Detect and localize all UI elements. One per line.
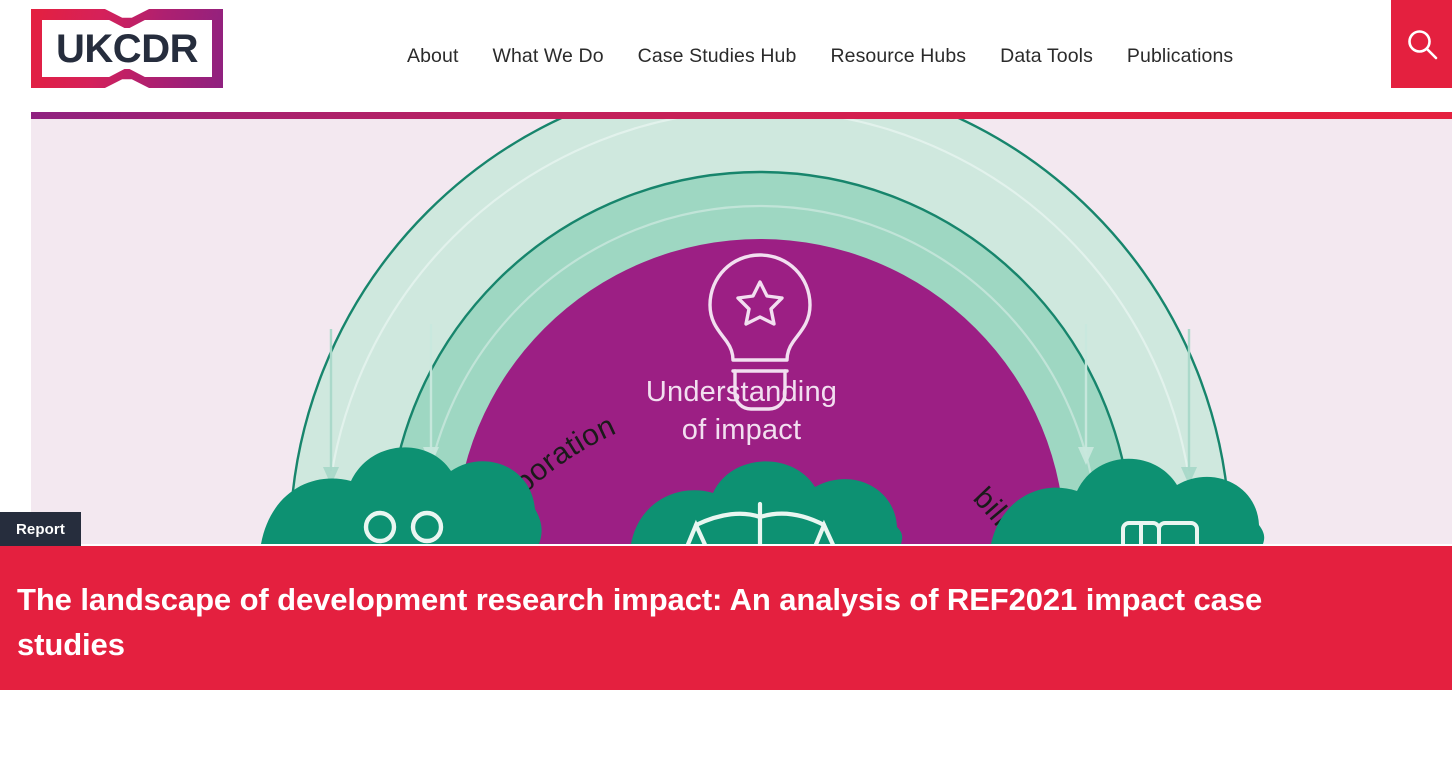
search-icon [1405, 27, 1439, 61]
nav-item-case-studies-hub[interactable]: Case Studies Hub [621, 45, 814, 68]
nav-item-publications[interactable]: Publications [1110, 45, 1250, 68]
page-root: UKCDR About What We Do Case Studies Hub … [0, 0, 1452, 773]
main-navigation: About What We Do Case Studies Hub Resour… [390, 0, 1250, 112]
status-badge-report: Report [0, 512, 81, 546]
ukcdr-logo[interactable]: UKCDR [31, 9, 223, 88]
header-accent-rule [31, 112, 1452, 119]
search-button[interactable] [1391, 0, 1452, 88]
content-below-fold [0, 690, 1452, 773]
logo-wordmark: UKCDR [56, 29, 198, 69]
site-header: UKCDR About What We Do Case Studies Hub … [0, 0, 1452, 112]
nav-item-data-tools[interactable]: Data Tools [983, 45, 1110, 68]
logo-inner-panel: UKCDR [42, 20, 212, 77]
title-banner: The landscape of development research im… [0, 546, 1452, 690]
hero-illustration: Collaboration bility [31, 119, 1452, 544]
nav-item-resource-hubs[interactable]: Resource Hubs [813, 45, 983, 68]
nav-item-what-we-do[interactable]: What We Do [475, 45, 620, 68]
page-title: The landscape of development research im… [17, 578, 1357, 668]
nav-item-about[interactable]: About [390, 45, 475, 68]
impact-wheel-diagram: Collaboration bility [31, 119, 1452, 544]
